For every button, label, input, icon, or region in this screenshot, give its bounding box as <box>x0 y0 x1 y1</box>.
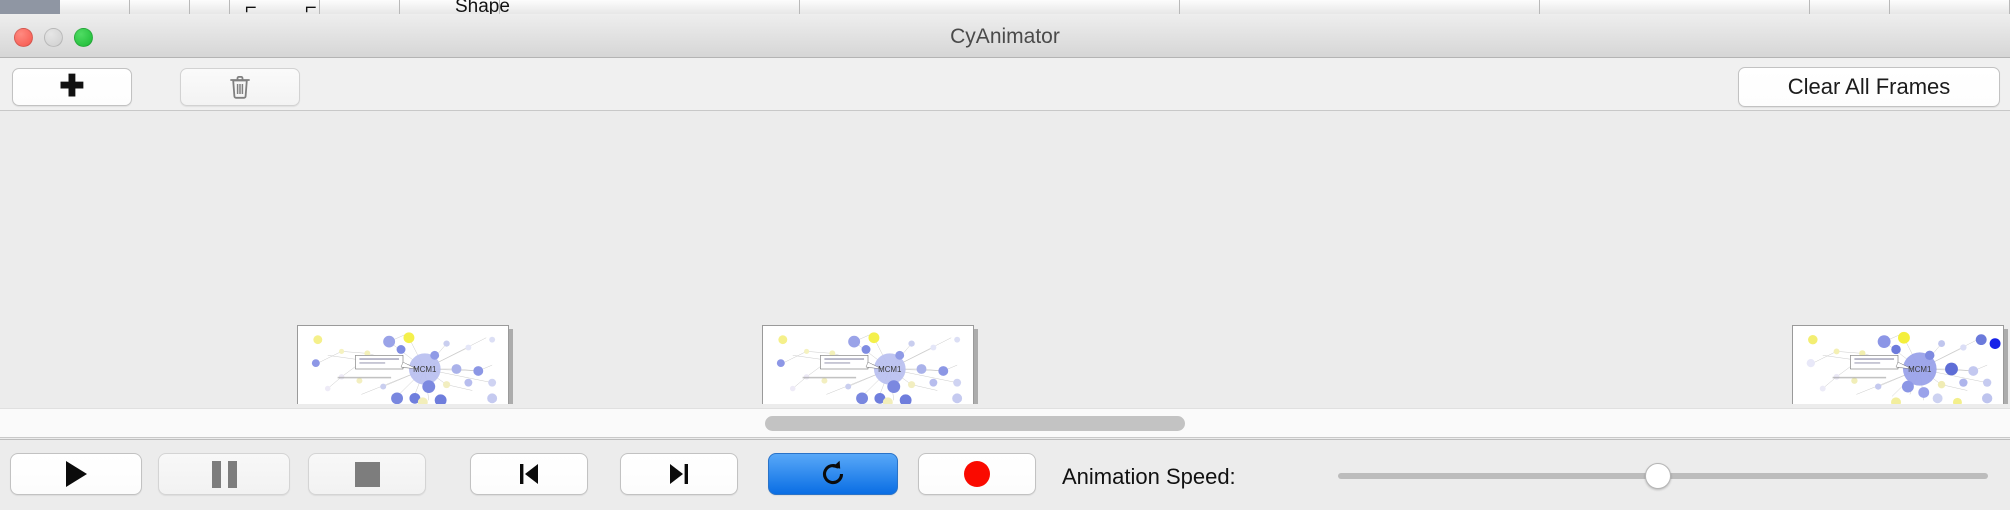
network-graph-preview: MCM1 <box>1793 326 2003 404</box>
record-button[interactable] <box>918 453 1036 495</box>
animation-speed-label: Animation Speed: <box>1062 464 1236 490</box>
background-window-strip: ⌐ ⌐ Shape <box>0 0 2010 14</box>
svg-text:MCM1: MCM1 <box>413 365 436 374</box>
timeline-panel[interactable]: MCM1 <box>0 111 2010 404</box>
stop-button[interactable] <box>308 453 426 495</box>
background-window-shape-label: Shape <box>455 0 510 14</box>
window-title: CyAnimator <box>0 25 2010 49</box>
add-frame-button[interactable]: ✚ <box>12 68 132 106</box>
cyanimator-window: ⌐ ⌐ Shape CyAnimator ✚ Clear All Frames <box>0 0 2010 510</box>
play-icon <box>66 461 87 487</box>
network-graph-preview: MCM1 <box>763 326 973 404</box>
keyframe-thumbnail[interactable]: MCM1 <box>297 325 509 404</box>
plus-icon: ✚ <box>59 72 84 102</box>
animation-speed-slider-thumb[interactable] <box>1645 463 1671 489</box>
record-icon <box>964 461 990 487</box>
skip-forward-button[interactable] <box>620 453 738 495</box>
stop-icon <box>355 462 380 487</box>
timeline-horizontal-scrollbar[interactable] <box>0 408 2010 438</box>
skip-forward-icon <box>666 460 692 488</box>
skip-back-button[interactable] <box>470 453 588 495</box>
clear-all-frames-button[interactable]: Clear All Frames <box>1738 67 2000 107</box>
skip-back-icon <box>516 460 542 488</box>
keyframe-thumbnail[interactable]: MCM1 <box>1792 325 2004 404</box>
svg-text:MCM1: MCM1 <box>1908 365 1931 374</box>
background-glyph-bracket: ⌐ <box>245 0 257 14</box>
pause-button[interactable] <box>158 453 290 495</box>
loop-button[interactable] <box>768 453 898 495</box>
transport-bar: Animation Speed: <box>0 439 2010 510</box>
delete-frame-button[interactable] <box>180 68 300 106</box>
trash-icon <box>228 74 252 100</box>
title-bar: CyAnimator <box>0 14 2010 58</box>
background-glyph-bar: ⌐ <box>305 0 317 14</box>
loop-icon <box>818 459 848 489</box>
toolbar: ✚ Clear All Frames <box>0 58 2010 111</box>
scrollbar-thumb[interactable] <box>765 416 1185 431</box>
keyframe-thumbnail[interactable]: MCM1 <box>762 325 974 404</box>
network-graph-preview: MCM1 <box>298 326 508 404</box>
play-button[interactable] <box>10 453 142 495</box>
svg-text:MCM1: MCM1 <box>878 365 901 374</box>
pause-icon <box>212 461 237 488</box>
